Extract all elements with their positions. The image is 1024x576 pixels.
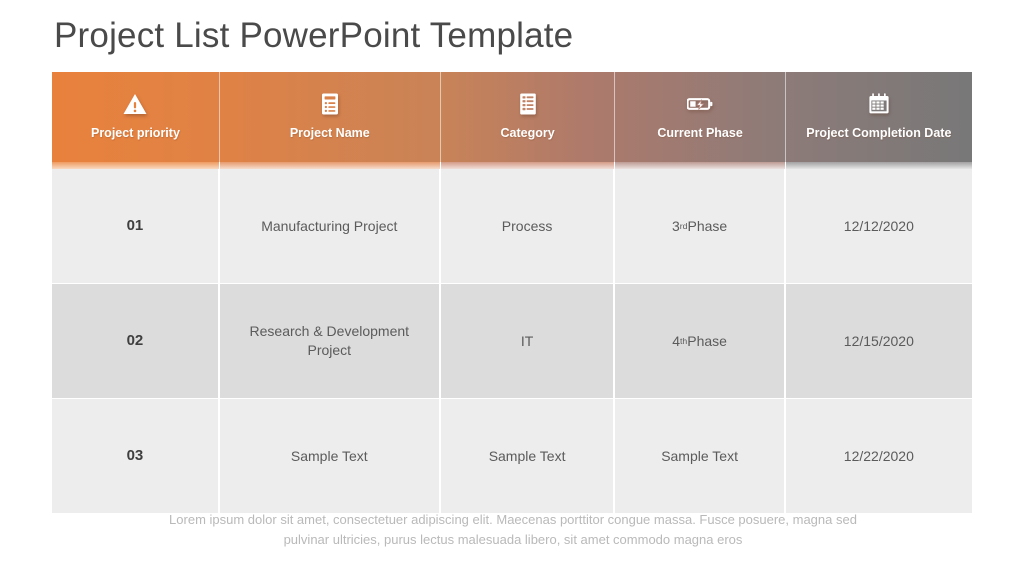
cell-category: Process bbox=[441, 169, 616, 283]
warning-triangle-icon bbox=[122, 91, 148, 117]
accent-segment bbox=[441, 162, 616, 169]
calendar-icon bbox=[866, 91, 892, 117]
cell-current-phase: 4th Phase bbox=[615, 284, 785, 398]
cell-category: Sample Text bbox=[441, 399, 616, 513]
phase-word: Sample Text bbox=[661, 447, 738, 466]
page-title: Project List PowerPoint Template bbox=[54, 16, 573, 56]
cell-project-priority: 02 bbox=[52, 284, 220, 398]
cell-project-priority: 01 bbox=[52, 169, 220, 283]
column-header-label: Category bbox=[500, 126, 554, 142]
cell-project-name: Manufacturing Project bbox=[220, 169, 441, 283]
column-header-label: Current Phase bbox=[657, 126, 742, 142]
phase-word: Phase bbox=[687, 217, 727, 236]
list-document-icon bbox=[515, 91, 541, 117]
checklist-icon bbox=[317, 91, 343, 117]
slide-canvas: Project List PowerPoint Template Project… bbox=[0, 0, 1024, 576]
column-header-project-completion-date[interactable]: Project Completion Date bbox=[786, 72, 972, 162]
cell-project-name: Sample Text bbox=[220, 399, 441, 513]
cell-category: IT bbox=[441, 284, 616, 398]
column-header-category[interactable]: Category bbox=[441, 72, 616, 162]
column-header-project-name[interactable]: Project Name bbox=[220, 72, 441, 162]
cell-project-name: Research & Development Project bbox=[220, 284, 441, 398]
header-accent-strip bbox=[52, 162, 972, 169]
phase-number: 4 bbox=[672, 332, 680, 351]
cell-project-priority: 03 bbox=[52, 399, 220, 513]
table-row[interactable]: 03 Sample Text Sample Text Sample Text 1… bbox=[52, 399, 972, 513]
column-header-current-phase[interactable]: Current Phase bbox=[615, 72, 785, 162]
accent-segment bbox=[220, 162, 441, 169]
column-header-label: Project priority bbox=[91, 126, 180, 142]
footer-note: Lorem ipsum dolor sit amet, consectetuer… bbox=[150, 510, 876, 549]
cell-completion-date: 12/12/2020 bbox=[786, 169, 972, 283]
cell-completion-date: 12/15/2020 bbox=[786, 284, 972, 398]
phase-number: 3 bbox=[672, 217, 680, 236]
accent-segment bbox=[786, 162, 972, 169]
column-header-project-priority[interactable]: Project priority bbox=[52, 72, 220, 162]
accent-segment bbox=[615, 162, 785, 169]
column-header-label: Project Completion Date bbox=[806, 126, 951, 142]
table-header-row: Project priority Project Name bbox=[52, 72, 972, 162]
cell-current-phase: 3rd Phase bbox=[615, 169, 785, 283]
column-header-label: Project Name bbox=[290, 126, 370, 142]
table-row[interactable]: 02 Research & Development Project IT 4th… bbox=[52, 284, 972, 398]
table-row[interactable]: 01 Manufacturing Project Process 3rd Pha… bbox=[52, 169, 972, 283]
battery-charging-icon bbox=[687, 91, 713, 117]
cell-current-phase: Sample Text bbox=[615, 399, 785, 513]
project-list-table: Project priority Project Name bbox=[52, 72, 972, 513]
cell-completion-date: 12/22/2020 bbox=[786, 399, 972, 513]
phase-word: Phase bbox=[687, 332, 727, 351]
accent-segment bbox=[52, 162, 220, 169]
